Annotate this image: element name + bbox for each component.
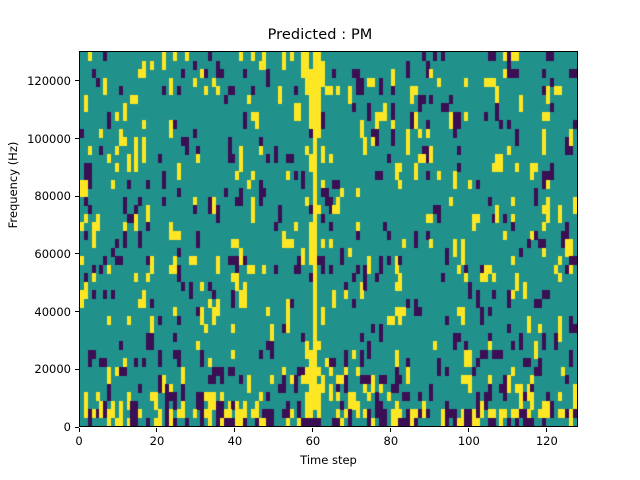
- page-title: Predicted : PM: [0, 27, 640, 43]
- x-tick-mark: [312, 428, 313, 432]
- x-tick-mark: [234, 428, 235, 432]
- y-tick-label: 40000: [0, 304, 71, 320]
- y-tick-label: 20000: [0, 361, 71, 377]
- heatmap-plot-area[interactable]: [79, 51, 578, 427]
- x-tick-label: 120: [517, 434, 577, 448]
- x-tick-mark: [546, 428, 547, 432]
- y-tick-label: 120000: [0, 73, 71, 89]
- x-tick-mark: [79, 428, 80, 432]
- y-tick-label: 60000: [0, 246, 71, 262]
- x-tick-label: 80: [361, 434, 421, 448]
- y-tick-label: 0: [0, 419, 71, 435]
- x-tick-label: 0: [49, 434, 109, 448]
- x-tick-label: 40: [205, 434, 265, 448]
- x-tick-mark: [468, 428, 469, 432]
- x-tick-label: 20: [127, 434, 187, 448]
- heatmap-image: [80, 52, 577, 426]
- y-tick-label: 100000: [0, 131, 71, 147]
- x-tick-mark: [156, 428, 157, 432]
- x-tick-label: 100: [439, 434, 499, 448]
- y-tick-label: 80000: [0, 188, 71, 204]
- figure-canvas: Predicted : PM Frequency (Hz) 0200004000…: [0, 0, 640, 480]
- x-tick-mark: [390, 428, 391, 432]
- x-tick-label: 60: [283, 434, 343, 448]
- x-axis-label: Time step: [79, 453, 578, 467]
